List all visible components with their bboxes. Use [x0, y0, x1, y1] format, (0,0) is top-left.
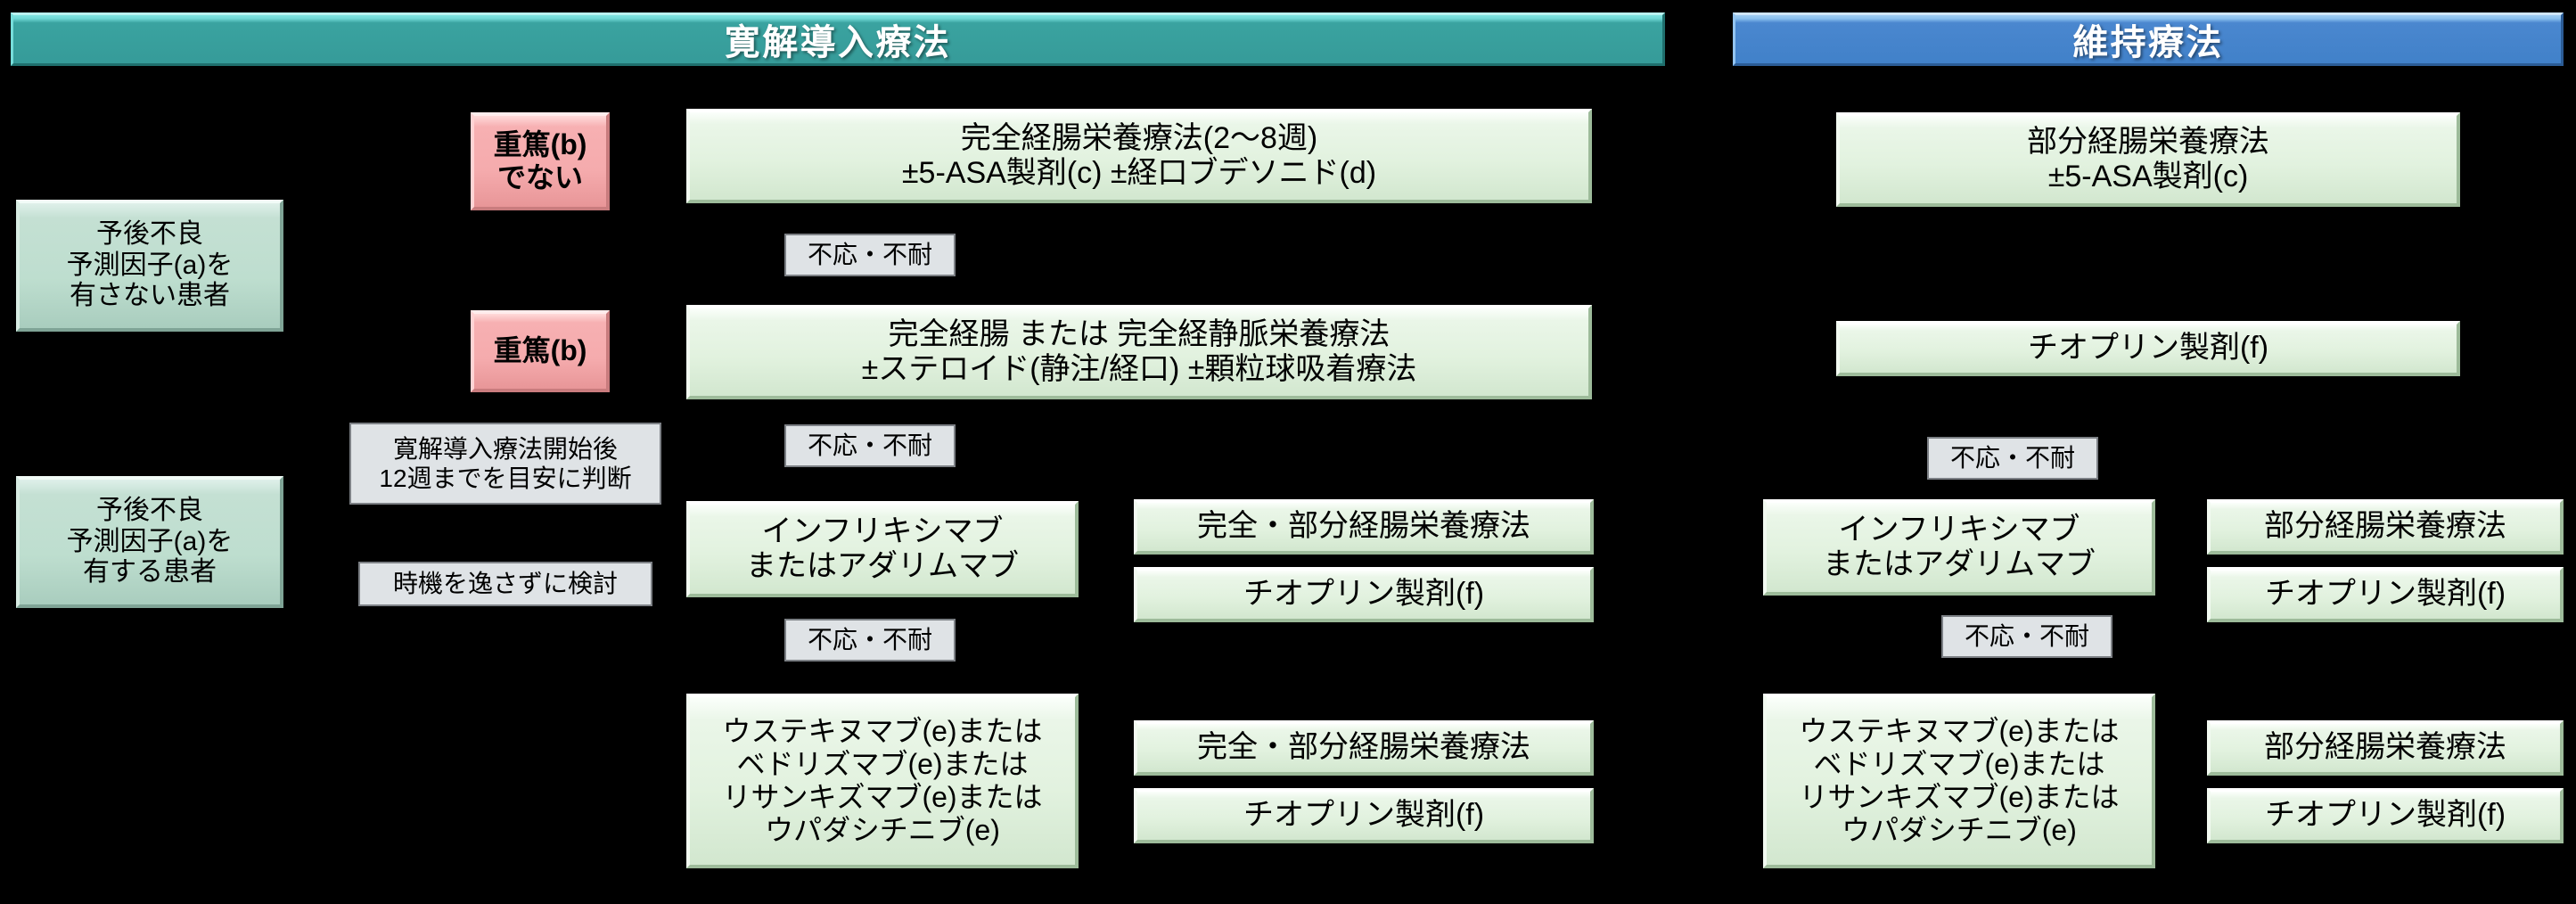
timing-note-12-weeks: 寛解導入療法開始後 12週までを目安に判断 — [349, 423, 661, 505]
induction-step3-adjunct-enteral-nutrition: 完全・部分経腸栄養療法 — [1134, 499, 1594, 555]
induction-step3-adjunct-thiopurine: チオプリン製剤(f) — [1134, 567, 1594, 622]
maintenance-step3-adjunct-thiopurine: チオプリン製剤(f) — [2207, 567, 2564, 622]
patient-group-box-with-poor-prognosis: 予後不良 予測因子(a)を 有する患者 — [16, 476, 283, 608]
induction-nonresponse-chip-2: 不応・不耐 — [784, 424, 956, 467]
timing-note-without-delay: 時機を逸さずに検討 — [358, 562, 652, 606]
severity-box-severe: 重篤(b) — [471, 310, 610, 392]
maintenance-step3-box: インフリキシマブ またはアダリムマブ — [1763, 499, 2155, 596]
patient-group-box-no-poor-prognosis: 予後不良 予測因子(a)を 有さない患者 — [16, 200, 283, 332]
maintenance-step4-box: ウステキヌマブ(e)または ベドリズマブ(e)または リサンキズマブ(e)または… — [1763, 694, 2155, 868]
maintenance-step1-box: 部分経腸栄養療法 ±5-ASA製剤(c) — [1836, 112, 2460, 207]
induction-step2-box: 完全経腸 または 完全経静脈栄養療法 ±ステロイド(静注/経口) ±顆粒球吸着療… — [686, 305, 1592, 399]
induction-step3-box: インフリキシマブ またはアダリムマブ — [686, 501, 1079, 597]
maintenance-nonresponse-chip-1: 不応・不耐 — [1927, 437, 2098, 480]
maintenance-step3-adjunct-enteral-nutrition: 部分経腸栄養療法 — [2207, 499, 2564, 555]
induction-step4-adjunct-thiopurine: チオプリン製剤(f) — [1134, 788, 1594, 843]
header-maintenance-therapy: 維持療法 — [1733, 12, 2564, 66]
maintenance-step4-adjunct-thiopurine: チオプリン製剤(f) — [2207, 788, 2564, 843]
header-induction-title: 寛解導入療法 — [725, 13, 951, 65]
induction-nonresponse-chip-3: 不応・不耐 — [784, 619, 956, 662]
header-induction-therapy: 寛解導入療法 — [11, 12, 1665, 66]
induction-step4-box: ウステキヌマブ(e)または ベドリズマブ(e)または リサンキズマブ(e)または… — [686, 694, 1079, 868]
severity-box-not-severe: 重篤(b) でない — [471, 112, 610, 210]
maintenance-step2-box: チオプリン製剤(f) — [1836, 321, 2460, 376]
maintenance-nonresponse-chip-2: 不応・不耐 — [1941, 615, 2112, 658]
maintenance-step4-adjunct-enteral-nutrition: 部分経腸栄養療法 — [2207, 720, 2564, 776]
induction-nonresponse-chip-1: 不応・不耐 — [784, 234, 956, 276]
header-maintenance-title: 維持療法 — [2072, 13, 2224, 65]
induction-step1-box: 完全経腸栄養療法(2〜8週) ±5-ASA製剤(c) ±経口ブデソニド(d) — [686, 109, 1592, 203]
induction-step4-adjunct-enteral-nutrition: 完全・部分経腸栄養療法 — [1134, 720, 1594, 776]
